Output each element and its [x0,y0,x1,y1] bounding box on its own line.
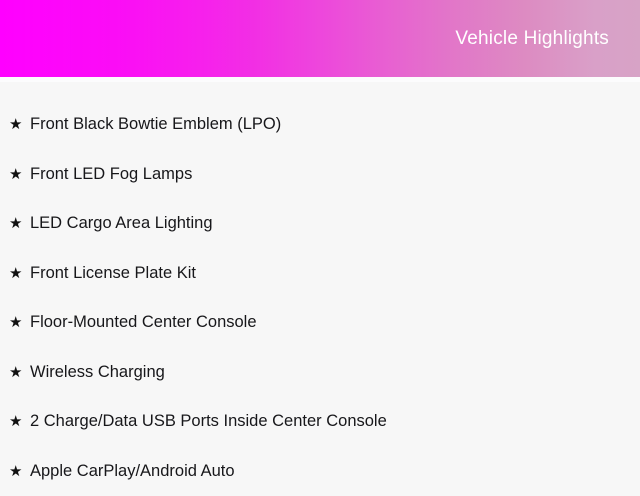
list-item-label: Wireless Charging [30,363,165,382]
list-item: ★ Wireless Charging [0,348,640,398]
list-item-label: Front License Plate Kit [30,264,196,283]
list-item: ★ Floor-Mounted Center Console [0,298,640,348]
list-item: ★ Apple CarPlay/Android Auto [0,447,640,496]
list-item: ★ Front Black Bowtie Emblem (LPO) [0,100,640,150]
list-item-label: Apple CarPlay/Android Auto [30,462,235,481]
list-item: ★ LED Cargo Area Lighting [0,199,640,249]
star-icon: ★ [9,414,30,429]
star-icon: ★ [9,266,30,281]
star-icon: ★ [9,117,30,132]
star-icon: ★ [9,464,30,479]
list-item-label: 2 Charge/Data USB Ports Inside Center Co… [30,412,387,431]
list-item-label: LED Cargo Area Lighting [30,214,213,233]
vehicle-highlights-list: ★ Front Black Bowtie Emblem (LPO) ★ Fron… [0,82,640,496]
vehicle-highlights-page: Vehicle Highlights ★ Front Black Bowtie … [0,0,640,480]
list-item: ★ 2 Charge/Data USB Ports Inside Center … [0,397,640,447]
star-icon: ★ [9,167,30,182]
list-item: ★ Front License Plate Kit [0,249,640,299]
page-title: Vehicle Highlights [455,29,609,48]
list-item: ★ Front LED Fog Lamps [0,150,640,200]
list-item-label: Front Black Bowtie Emblem (LPO) [30,115,281,134]
star-icon: ★ [9,216,30,231]
list-item-label: Front LED Fog Lamps [30,165,192,184]
star-icon: ★ [9,315,30,330]
header-banner: Vehicle Highlights [0,0,640,77]
list-item-label: Floor-Mounted Center Console [30,313,257,332]
star-icon: ★ [9,365,30,380]
